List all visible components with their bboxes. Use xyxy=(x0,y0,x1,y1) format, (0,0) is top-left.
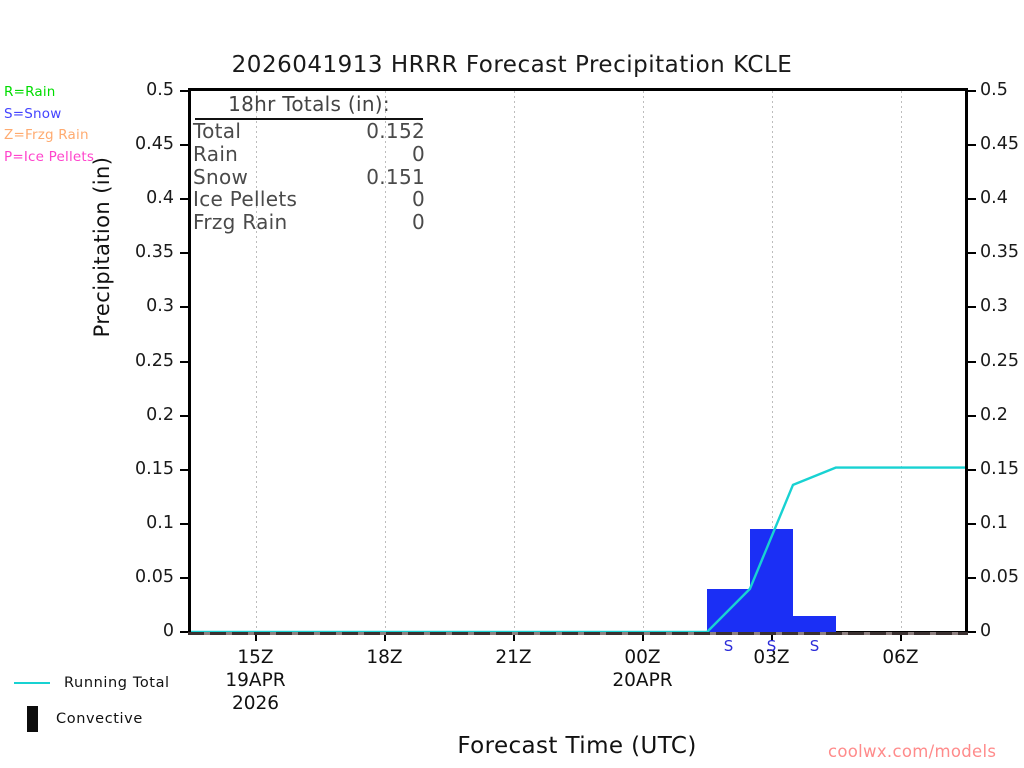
totals-label-rain: Rain xyxy=(193,143,238,166)
precip-key-ice-pellets: P=Ice Pellets xyxy=(4,147,94,169)
y-axis-label-right-0.35: 0.35 xyxy=(980,242,1024,262)
precip-key-freezing-rain: Z=Frzg Rain xyxy=(4,125,94,147)
y-axis-label-left-0.2: 0.2 xyxy=(114,405,174,425)
watermark: coolwx.com/models xyxy=(828,742,996,761)
x-tick-date: 2026 xyxy=(201,692,311,715)
y-tick-left-0.45 xyxy=(180,144,188,146)
totals-value-frzg-rain: 0 xyxy=(412,211,425,234)
y-axis-label-left-0.4: 0.4 xyxy=(114,188,174,208)
totals-box-header: 18hr Totals (in): xyxy=(195,91,423,120)
y-tick-left-0.4 xyxy=(180,198,188,200)
x-tick-18z xyxy=(384,634,386,641)
totals-label-frzg-rain: Frzg Rain xyxy=(193,211,287,234)
y-tick-left-0.15 xyxy=(180,469,188,471)
y-axis-label-right-0.4: 0.4 xyxy=(980,188,1024,208)
y-tick-right-0.45 xyxy=(968,144,976,146)
y-tick-right-0.25 xyxy=(968,361,976,363)
y-axis-label-right-0.25: 0.25 xyxy=(980,351,1024,371)
x-tick-06z xyxy=(900,634,902,641)
x-axis-label-18z: 18Z xyxy=(330,646,440,669)
x-tick-21z xyxy=(513,634,515,641)
x-tick-date: 19APR xyxy=(201,669,311,692)
y-axis-label-left-0.45: 0.45 xyxy=(114,134,174,154)
y-tick-left-0 xyxy=(180,631,188,633)
y-tick-left-0.5 xyxy=(180,90,188,92)
precip-key-snow: S=Snow xyxy=(4,104,94,126)
totals-row-rain: Rain 0 xyxy=(191,143,425,166)
page-title: 2026041913 HRRR Forecast Precipitation K… xyxy=(0,52,1024,78)
x-tick-time: 21Z xyxy=(459,646,569,669)
x-axis-label-21z: 21Z xyxy=(459,646,569,669)
y-axis-label-right-0.2: 0.2 xyxy=(980,405,1024,425)
y-axis-label-left-0.25: 0.25 xyxy=(114,351,174,371)
x-tick-date: 20APR xyxy=(588,669,698,692)
chart-legend: Running Total Convective xyxy=(10,665,170,737)
y-tick-right-0.1 xyxy=(968,523,976,525)
totals-label-snow: Snow xyxy=(193,166,248,189)
y-tick-right-0 xyxy=(968,631,976,633)
y-tick-right-0.35 xyxy=(968,252,976,254)
y-axis-label-right-0.5: 0.5 xyxy=(980,80,1024,100)
x-tick-00z xyxy=(642,634,644,641)
y-axis-label-left-0.5: 0.5 xyxy=(114,80,174,100)
y-tick-right-0.05 xyxy=(968,577,976,579)
precip-type-key: R=Rain S=Snow Z=Frzg Rain P=Ice Pellets xyxy=(4,82,94,168)
precip-type-marker-snow: S xyxy=(800,637,830,655)
legend-item-running-total: Running Total xyxy=(10,665,170,701)
y-tick-left-0.3 xyxy=(180,306,188,308)
y-tick-right-0.4 xyxy=(968,198,976,200)
y-tick-right-0.3 xyxy=(968,306,976,308)
precip-type-marker-snow: S xyxy=(757,637,787,655)
totals-value-snow: 0.151 xyxy=(366,166,425,189)
totals-label-ice-pellets: Ice Pellets xyxy=(193,188,297,211)
y-tick-right-0.2 xyxy=(968,415,976,417)
totals-row-ice-pellets: Ice Pellets 0 xyxy=(191,188,425,211)
x-axis-label-06z: 06Z xyxy=(846,646,956,669)
totals-row-frzg-rain: Frzg Rain 0 xyxy=(191,211,425,234)
x-axis-label-00z: 00Z20APR xyxy=(588,646,698,692)
y-axis-title: Precipitation (in) xyxy=(90,117,114,377)
x-tick-15z xyxy=(255,634,257,641)
y-axis-label-left-0.05: 0.05 xyxy=(114,567,174,587)
line-swatch-icon xyxy=(14,682,50,684)
y-axis-label-right-0.1: 0.1 xyxy=(980,513,1024,533)
y-axis-label-right-0.45: 0.45 xyxy=(980,134,1024,154)
y-tick-left-0.35 xyxy=(180,252,188,254)
y-axis-label-left-0: 0 xyxy=(114,621,174,641)
y-tick-right-0.15 xyxy=(968,469,976,471)
y-axis-label-right-0.3: 0.3 xyxy=(980,296,1024,316)
y-tick-left-0.25 xyxy=(180,361,188,363)
totals-value-rain: 0 xyxy=(412,143,425,166)
legend-item-convective: Convective xyxy=(10,701,170,737)
y-axis-label-right-0: 0 xyxy=(980,621,1024,641)
totals-value-total: 0.152 xyxy=(366,120,425,143)
totals-box: 18hr Totals (in): Total 0.152 Rain 0 Sno… xyxy=(191,91,443,234)
y-axis-label-left-0.15: 0.15 xyxy=(114,459,174,479)
x-tick-time: 15Z xyxy=(201,646,311,669)
y-axis-label-right-0.15: 0.15 xyxy=(980,459,1024,479)
y-tick-left-0.2 xyxy=(180,415,188,417)
x-tick-time: 18Z xyxy=(330,646,440,669)
totals-row-total: Total 0.152 xyxy=(191,120,425,143)
x-axis-label-15z: 15Z19APR2026 xyxy=(201,646,311,715)
y-tick-left-0.1 xyxy=(180,523,188,525)
y-tick-left-0.05 xyxy=(180,577,188,579)
totals-label-total: Total xyxy=(193,120,241,143)
zero-baseline xyxy=(188,632,968,635)
x-tick-time: 00Z xyxy=(588,646,698,669)
bar-swatch-icon xyxy=(27,706,38,732)
y-tick-right-0.5 xyxy=(968,90,976,92)
y-axis-label-left-0.1: 0.1 xyxy=(114,513,174,533)
legend-label-convective: Convective xyxy=(56,711,143,727)
legend-label-running-total: Running Total xyxy=(64,675,170,691)
totals-row-snow: Snow 0.151 xyxy=(191,166,425,189)
precip-type-marker-snow: S xyxy=(714,637,744,655)
x-tick-time: 06Z xyxy=(846,646,956,669)
y-axis-label-right-0.05: 0.05 xyxy=(980,567,1024,587)
y-axis-label-left-0.3: 0.3 xyxy=(114,296,174,316)
totals-value-ice-pellets: 0 xyxy=(412,188,425,211)
y-axis-label-left-0.35: 0.35 xyxy=(114,242,174,262)
precip-key-rain: R=Rain xyxy=(4,82,94,104)
